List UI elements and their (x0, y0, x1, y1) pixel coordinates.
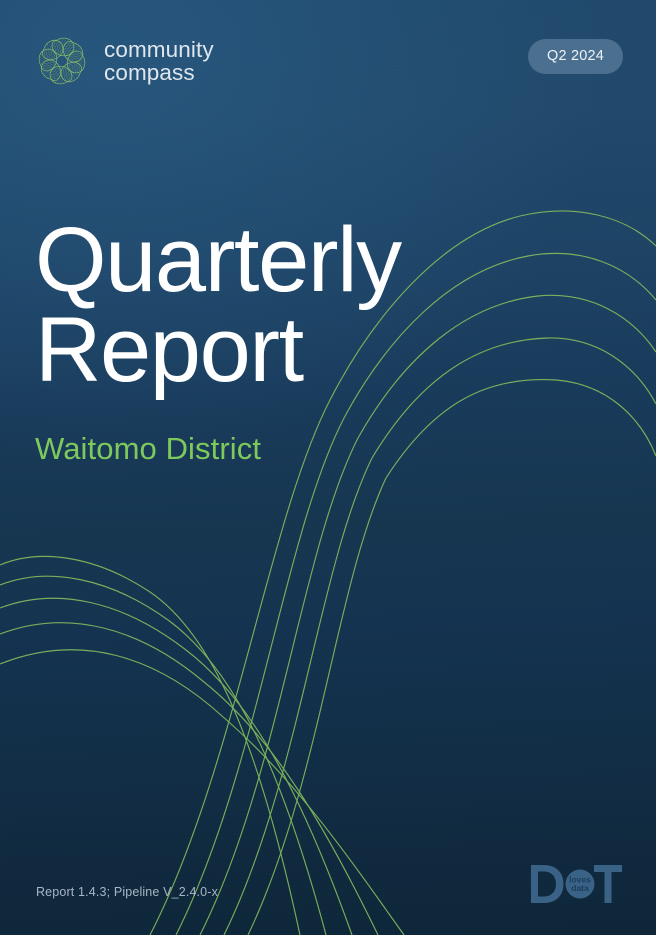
page-subtitle: Waitomo District (35, 431, 465, 467)
vendor-dot-line-2: data (571, 883, 589, 893)
brand-name-line-2: compass (104, 61, 214, 84)
dot-loves-data-logo-icon: loves data (528, 861, 624, 907)
page-title-line-1: Quarterly (35, 215, 465, 305)
cover-header: community compass Q2 2024 (0, 30, 656, 100)
report-cover-page: community compass Q2 2024 Quarterly Repo… (0, 0, 656, 935)
green-wave-curves-icon (0, 0, 656, 935)
brand-name-line-1: community (104, 38, 214, 61)
brand-wordmark: community compass (104, 38, 214, 85)
page-title: Quarterly Report Waitomo District (35, 215, 465, 467)
version-footnote: Report 1.4.3; Pipeline V_2.4.0-x (36, 885, 218, 899)
status-badge: Q2 2024 (528, 39, 623, 74)
circular-petal-ring-icon (33, 32, 91, 90)
brand-lockup: community compass (33, 32, 214, 90)
period-badge-label: Q2 2024 (547, 48, 604, 64)
page-title-line-2: Report (35, 305, 465, 395)
